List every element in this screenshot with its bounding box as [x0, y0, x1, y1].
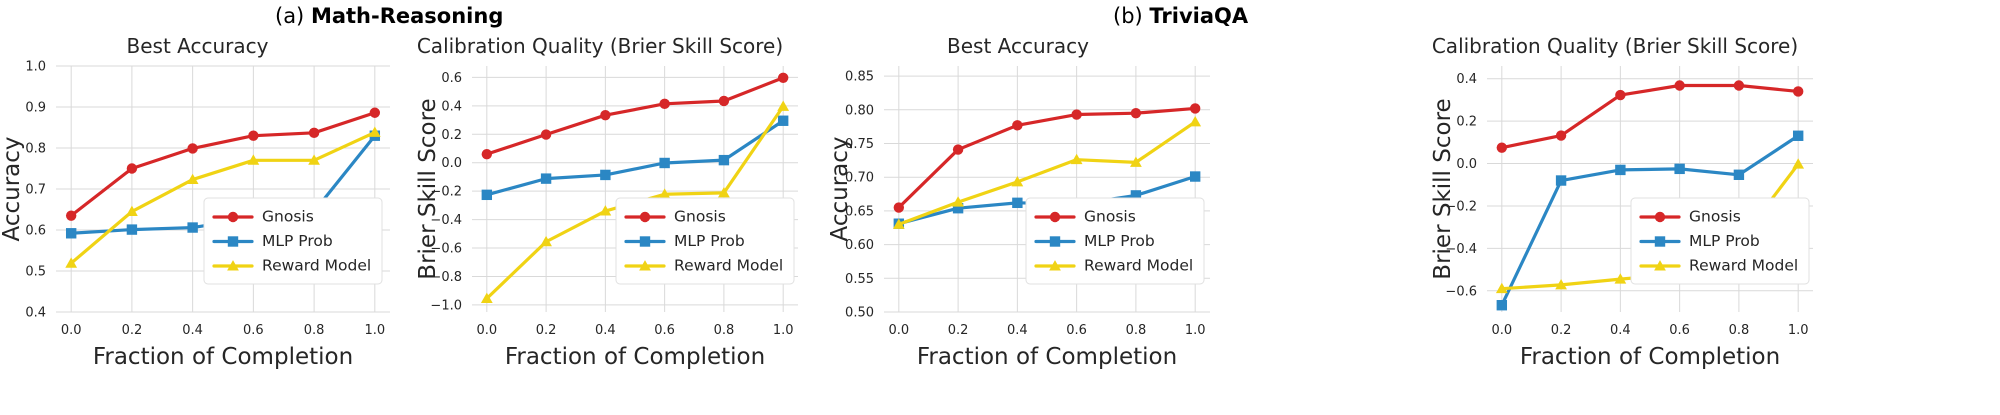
legend-label: MLP Prob	[262, 232, 333, 250]
legend-marker-square-icon	[1050, 236, 1060, 246]
chart-legend[interactable]: GnosisMLP ProbReward Model	[204, 198, 382, 284]
x-axis-tick-label: 0.8	[1126, 323, 1147, 338]
legend-marker-square-icon	[228, 236, 238, 246]
x-axis-tick-label: 0.8	[714, 323, 735, 338]
y-axis-label: Accuracy	[0, 136, 25, 241]
x-axis-tick-label: 0.0	[888, 323, 909, 338]
data-point-gnosis	[370, 108, 380, 118]
legend-label: Gnosis	[1084, 208, 1136, 226]
legend-label: Gnosis	[262, 208, 314, 226]
x-axis-tick-label: 0.6	[1669, 323, 1690, 338]
data-point-gnosis	[309, 128, 319, 138]
x-axis-tick-label: 0.2	[1551, 323, 1572, 338]
data-point-gnosis	[1190, 103, 1200, 113]
y-axis-tick-label: 0.85	[845, 70, 874, 85]
y-axis-tick-label: 0.4	[25, 306, 46, 321]
x-axis-tick-label: 0.0	[476, 323, 497, 338]
y-axis-tick-label: −0.6	[1445, 284, 1477, 299]
data-point-mlp-prob	[719, 155, 729, 165]
data-point-gnosis	[1131, 108, 1141, 118]
y-axis-tick-label: 0.0	[1456, 157, 1477, 172]
data-point-gnosis	[1012, 120, 1022, 130]
data-point-mlp-prob	[778, 116, 788, 126]
chart-legend[interactable]: GnosisMLP ProbReward Model	[616, 198, 794, 284]
data-point-mlp-prob	[1190, 171, 1200, 181]
x-axis-tick-label: 0.0	[1491, 323, 1512, 338]
legend-label: Reward Model	[1689, 257, 1798, 275]
legend-label: MLP Prob	[1689, 232, 1760, 250]
x-axis-tick-label: 0.2	[122, 323, 143, 338]
legend-marker-circle-icon	[228, 212, 238, 222]
data-point-mlp-prob	[541, 173, 551, 183]
x-axis-tick-label: 0.8	[304, 323, 325, 338]
data-point-gnosis	[1674, 80, 1684, 90]
group-a-name: Math-Reasoning	[311, 4, 503, 28]
y-axis-tick-label: 0.2	[441, 128, 462, 143]
y-axis-tick-label: 0.55	[845, 272, 874, 287]
x-axis-tick-label: 0.6	[654, 323, 675, 338]
data-point-gnosis	[482, 149, 492, 159]
group-b-name: TriviaQA	[1149, 4, 1248, 28]
group-title-b: (b) TriviaQA	[1113, 4, 1248, 28]
data-point-gnosis	[1734, 80, 1744, 90]
x-axis-tick-label: 1.0	[1185, 323, 1206, 338]
data-point-mlp-prob	[1793, 131, 1803, 141]
legend-marker-circle-icon	[1655, 212, 1665, 222]
y-axis-tick-label: 0.80	[845, 103, 874, 118]
data-point-mlp-prob	[1556, 175, 1566, 185]
figure-root: (a) Math-Reasoning (b) TriviaQA Best Acc…	[0, 0, 2000, 415]
x-axis-tick-label: 1.0	[1788, 323, 1809, 338]
data-point-gnosis	[659, 99, 669, 109]
x-axis-tick-label: 0.6	[243, 323, 264, 338]
data-point-gnosis	[719, 96, 729, 106]
chart-panel-best-accuracy-triviaqa: Best Accuracy 0.500.550.600.650.700.750.…	[818, 30, 1218, 415]
y-axis-tick-label: 0.8	[25, 142, 46, 157]
chart-panel-calibration-math: Calibration Quality (Brier Skill Score) …	[400, 30, 800, 415]
data-point-mlp-prob	[1012, 198, 1022, 208]
data-point-mlp-prob	[66, 228, 76, 238]
data-point-gnosis	[778, 73, 788, 83]
data-point-gnosis	[1071, 109, 1081, 119]
y-axis-label: Brier Skill Score	[415, 98, 441, 279]
legend-marker-circle-icon	[1050, 212, 1060, 222]
y-axis-tick-label: 0.6	[441, 71, 462, 86]
x-axis-label: Fraction of Completion	[472, 344, 798, 370]
chart-panel-best-accuracy-math: Best Accuracy 0.40.50.60.70.80.91.00.00.…	[0, 30, 395, 415]
y-axis-tick-label: 0.9	[25, 101, 46, 116]
y-axis-label: Brier Skill Score	[1430, 98, 1456, 279]
y-axis-label: Accuracy	[827, 136, 853, 241]
x-axis-tick-label: 0.4	[595, 323, 616, 338]
legend-marker-circle-icon	[640, 212, 650, 222]
x-axis-tick-label: 0.8	[1729, 323, 1750, 338]
x-axis-tick-label: 0.0	[61, 323, 82, 338]
x-axis-label: Fraction of Completion	[56, 344, 390, 370]
y-axis-tick-label: 0.7	[25, 183, 46, 198]
data-point-gnosis	[1615, 90, 1625, 100]
data-point-mlp-prob	[187, 222, 197, 232]
x-axis-tick-label: 1.0	[773, 323, 794, 338]
x-axis-tick-label: 0.2	[536, 323, 557, 338]
data-point-gnosis	[1556, 130, 1566, 140]
data-point-gnosis	[127, 163, 137, 173]
data-point-gnosis	[600, 110, 610, 120]
x-axis-tick-label: 0.6	[1066, 323, 1087, 338]
legend-label: Reward Model	[1084, 257, 1193, 275]
x-axis-tick-label: 0.2	[948, 323, 969, 338]
data-point-mlp-prob	[659, 158, 669, 168]
legend-label: Gnosis	[1689, 208, 1741, 226]
data-point-mlp-prob	[1497, 300, 1507, 310]
y-axis-tick-label: 0.50	[845, 306, 874, 321]
y-axis-tick-label: 1.0	[25, 60, 46, 75]
chart-legend[interactable]: GnosisMLP ProbReward Model	[1026, 198, 1204, 284]
data-point-gnosis	[1497, 142, 1507, 152]
y-axis-tick-label: 0.5	[25, 265, 46, 280]
data-point-gnosis	[187, 143, 197, 153]
legend-marker-square-icon	[1655, 236, 1665, 246]
data-point-mlp-prob	[1734, 170, 1744, 180]
data-point-gnosis	[1793, 86, 1803, 96]
data-point-gnosis	[953, 144, 963, 154]
x-axis-tick-label: 0.4	[1007, 323, 1028, 338]
group-title-a: (a) Math-Reasoning	[275, 4, 503, 28]
data-point-gnosis	[541, 129, 551, 139]
legend-label: MLP Prob	[674, 232, 745, 250]
chart-legend[interactable]: GnosisMLP ProbReward Model	[1631, 198, 1809, 284]
data-point-gnosis	[248, 131, 258, 141]
chart-panel-calibration-triviaqa: Calibration Quality (Brier Skill Score) …	[1415, 30, 1815, 415]
y-axis-tick-label: 0.0	[441, 156, 462, 171]
group-b-tag: (b)	[1113, 4, 1143, 28]
legend-label: Reward Model	[262, 257, 371, 275]
data-point-mlp-prob	[1674, 164, 1684, 174]
legend-label: MLP Prob	[1084, 232, 1155, 250]
x-axis-tick-label: 0.4	[1610, 323, 1631, 338]
data-point-gnosis	[894, 202, 904, 212]
legend-label: Reward Model	[674, 257, 783, 275]
y-axis-tick-label: 0.6	[25, 224, 46, 239]
y-axis-tick-label: 0.2	[1456, 115, 1477, 130]
x-axis-tick-label: 0.4	[182, 323, 203, 338]
data-point-mlp-prob	[482, 190, 492, 200]
legend-marker-square-icon	[640, 236, 650, 246]
group-a-tag: (a)	[275, 4, 304, 28]
data-point-mlp-prob	[127, 224, 137, 234]
data-point-mlp-prob	[1615, 165, 1625, 175]
y-axis-tick-label: 0.4	[441, 99, 462, 114]
y-axis-tick-label: −1.0	[430, 298, 462, 313]
y-axis-tick-label: 0.4	[1456, 72, 1477, 87]
legend-label: Gnosis	[674, 208, 726, 226]
x-axis-tick-label: 1.0	[364, 323, 385, 338]
data-point-mlp-prob	[600, 170, 610, 180]
data-point-gnosis	[66, 210, 76, 220]
x-axis-label: Fraction of Completion	[1487, 344, 1813, 370]
x-axis-label: Fraction of Completion	[884, 344, 1210, 370]
